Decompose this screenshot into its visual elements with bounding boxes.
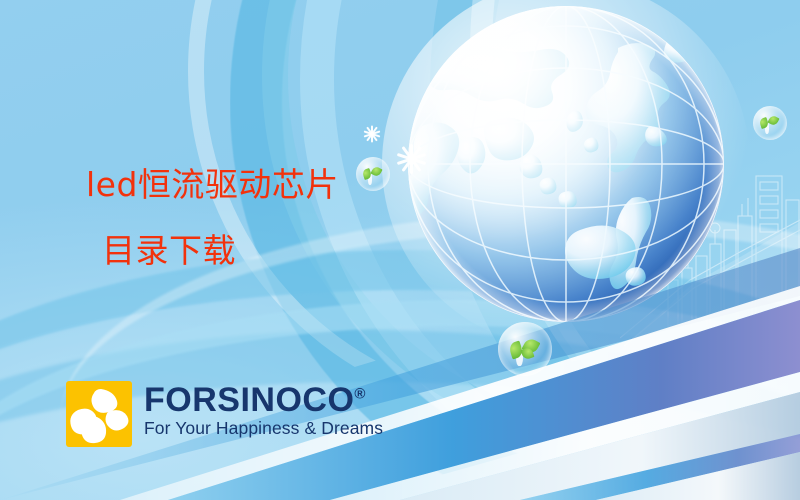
promo-banner: led恒流驱动芯片 目录下载 FORSINOCO® For Your Happi… <box>0 0 800 500</box>
logo-text-block: FORSINOCO® For Your Happiness & Dreams <box>144 381 383 438</box>
bubble-sprout-corner <box>753 106 787 140</box>
pinwheel-petals <box>66 381 132 447</box>
headline-line-2: 目录下载 <box>102 234 339 267</box>
logo-wordmark: FORSINOCO® <box>144 383 383 418</box>
star-flower-small <box>363 125 380 142</box>
bubble-sprout-small <box>356 157 390 191</box>
registered-trademark-icon: ® <box>354 386 366 403</box>
logo-wordmark-text: FORSINOCO <box>144 381 354 419</box>
four-petal-pinwheel-icon <box>66 381 132 447</box>
headline-line-1: led恒流驱动芯片 <box>86 168 339 201</box>
logo-tagline: For Your Happiness & Dreams <box>144 419 383 438</box>
star-flower-large <box>396 144 426 174</box>
bubble-sprout-large <box>498 322 552 376</box>
globe-graphic <box>404 2 728 326</box>
headline-text: led恒流驱动芯片 目录下载 <box>86 168 339 267</box>
company-logo[interactable]: FORSINOCO® For Your Happiness & Dreams <box>66 381 383 447</box>
